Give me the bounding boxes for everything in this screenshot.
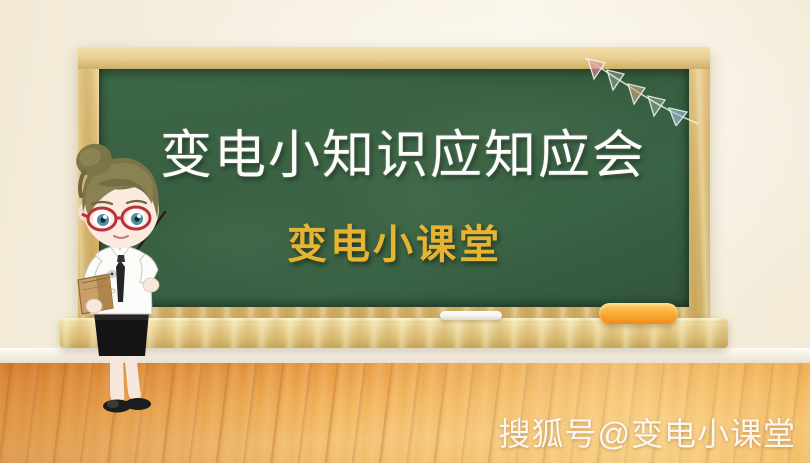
cartoon-teacher-character [52,134,202,424]
board-eraser-icon [599,303,678,324]
chalk-stick-icon [440,311,502,320]
title-card-scene: 变电小知识应知应会 变电小课堂 [0,0,810,463]
chalk-bunting-garland [583,52,703,126]
board-subtitle: 变电小课堂 [287,222,607,268]
watermark-text: 搜狐号@变电小课堂 [499,409,797,455]
bunting-svg [583,52,703,126]
teacher-svg [52,134,202,424]
board-title: 变电小知识应知应会 [160,127,660,185]
